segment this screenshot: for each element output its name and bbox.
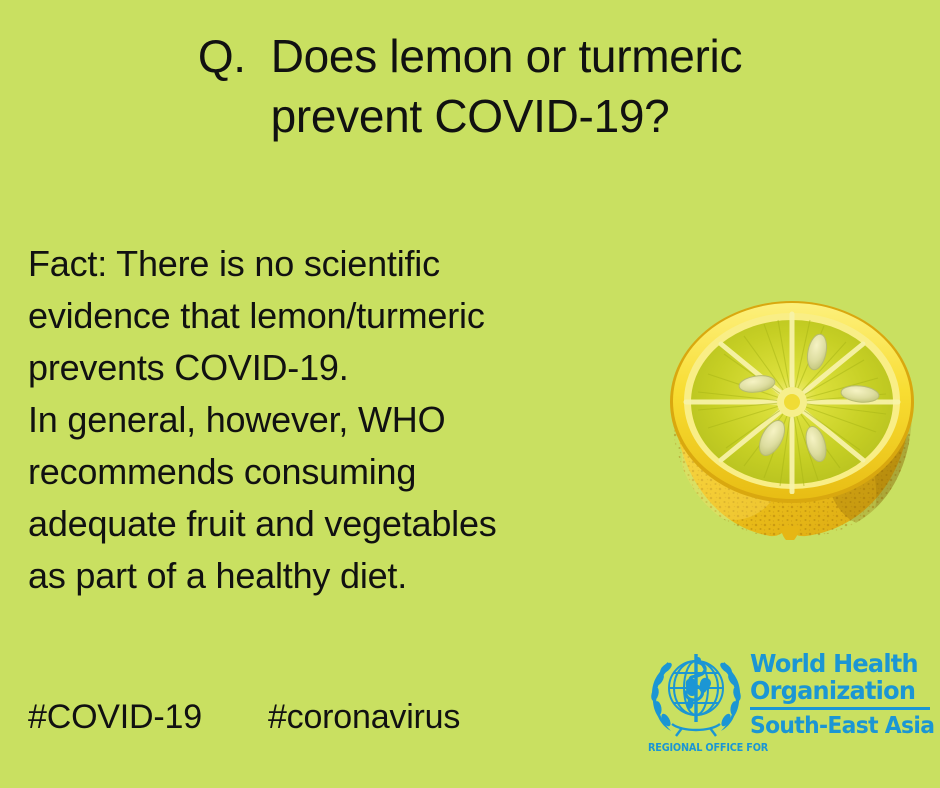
who-wordmark: World Health Organization South-East Asi… <box>750 648 940 739</box>
who-name-line-2: Organization <box>750 677 936 704</box>
fact-body-text: Fact: There is no scientific evidence th… <box>28 238 628 602</box>
title-line-2: prevent COVID-19? <box>0 86 940 146</box>
who-name-line-1: World Health <box>750 650 936 677</box>
hashtag-row: #COVID-19 #coronavirus <box>28 697 460 737</box>
who-logo: World Health Organization South-East Asi… <box>646 648 930 756</box>
hashtag-coronavirus[interactable]: #coronavirus <box>268 697 460 737</box>
body-line-1: Fact: There is no scientific <box>28 238 628 290</box>
title-line-1: Q. Does lemon or turmeric <box>0 26 940 86</box>
body-line-7: as part of a healthy diet. <box>28 550 628 602</box>
covid-myth-buster-card: Q. Does lemon or turmeric prevent COVID-… <box>0 0 940 788</box>
lemon-cut-face <box>670 301 914 503</box>
body-line-2: evidence that lemon/turmeric <box>28 290 628 342</box>
body-line-5: recommends consuming <box>28 446 628 498</box>
who-emblem-icon <box>646 648 746 740</box>
who-regional-office-label: REGIONAL OFFICE FOR <box>648 741 768 754</box>
who-region-label: South-East Asia <box>750 714 934 739</box>
who-divider-rule <box>750 707 930 710</box>
lemon-half-illustration <box>664 298 920 540</box>
body-line-4: In general, however, WHO <box>28 394 628 446</box>
page-title: Q. Does lemon or turmeric prevent COVID-… <box>0 26 940 146</box>
body-line-6: adequate fruit and vegetables <box>28 498 628 550</box>
hashtag-covid-19[interactable]: #COVID-19 <box>28 697 202 737</box>
body-line-3: prevents COVID-19. <box>28 342 628 394</box>
